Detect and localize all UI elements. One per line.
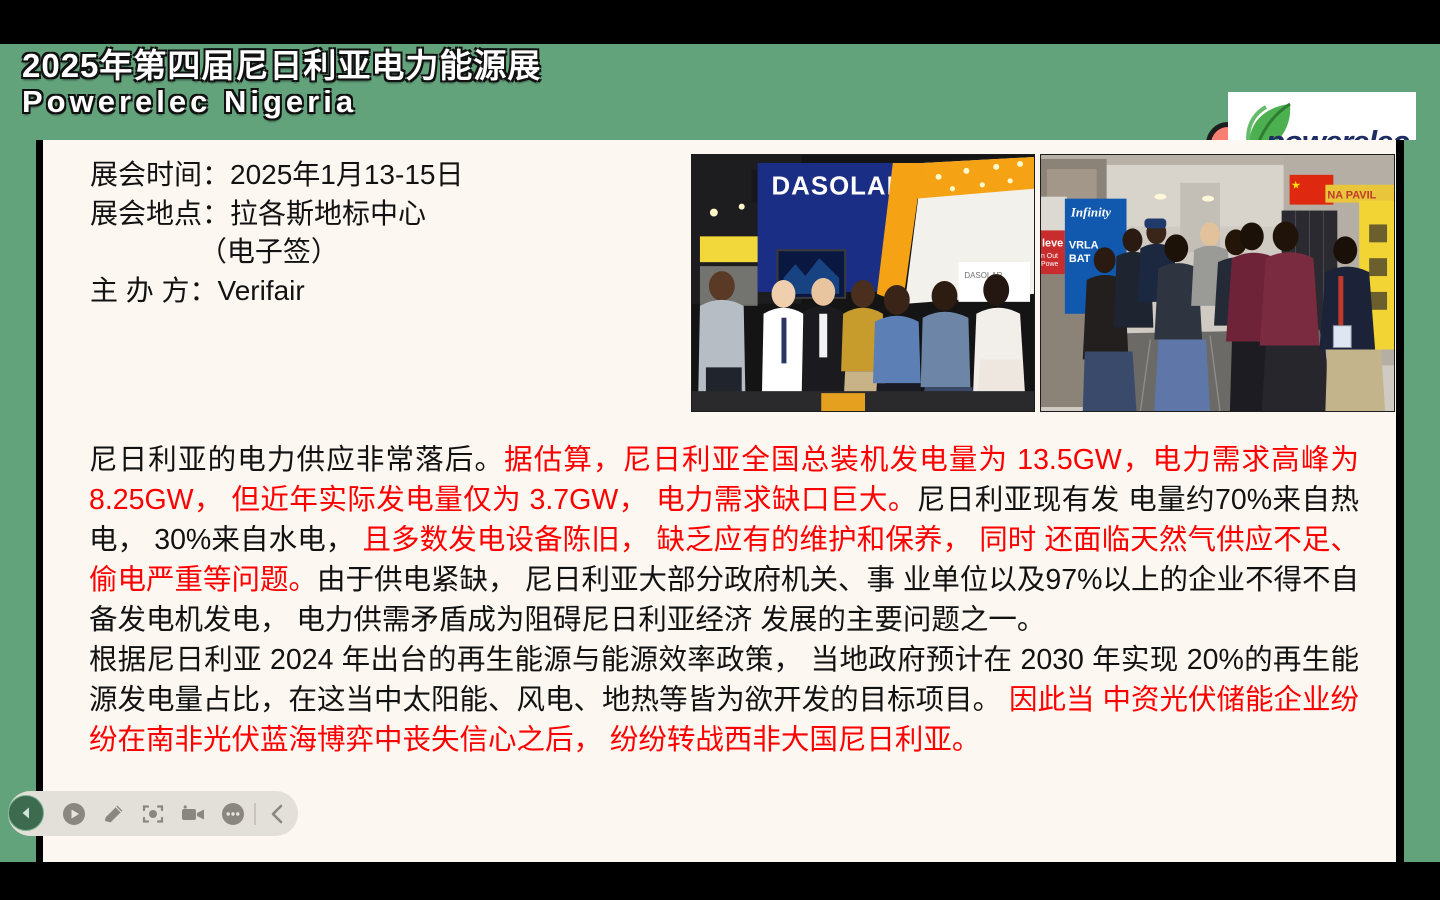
more-button[interactable] <box>213 791 253 836</box>
toolbar-divider <box>254 803 256 825</box>
back-button[interactable] <box>8 795 44 831</box>
svg-text:n Out: n Out <box>1041 253 1058 260</box>
svg-text:NA PAVIL: NA PAVIL <box>1327 190 1376 202</box>
svg-text:leve: leve <box>1042 237 1063 249</box>
focus-frame-icon <box>141 802 165 826</box>
page-title: 2025年第四届尼日利亚电力能源展 Powerelec Nigeria <box>22 48 1182 118</box>
left-green-band <box>0 140 36 862</box>
slide-viewer: 2025年第四届尼日利亚电力能源展 Powerelec Nigeria powe… <box>0 0 1440 900</box>
svg-text:Infinity: Infinity <box>1070 205 1111 220</box>
pencil-icon <box>102 802 126 826</box>
slide-content: 展会时间：2025年1月13-15日 展会地点：拉各斯地标中心 （电子签） 主 … <box>43 140 1396 862</box>
chevron-left-icon <box>267 803 289 825</box>
p1-seg-1: 尼日利亚的电力供应非常落后。 <box>89 444 504 476</box>
event-info-block: 展会时间：2025年1月13-15日 展会地点：拉各斯地标中心 （电子签） 主 … <box>90 156 463 311</box>
annotate-button[interactable] <box>94 791 134 836</box>
video-camera-icon <box>180 802 206 826</box>
event-venue: 展会地点：拉各斯地标中心 <box>90 198 426 229</box>
collapse-button[interactable] <box>258 791 298 836</box>
title-line-english: Powerelec Nigeria <box>22 85 1182 118</box>
more-dots-icon <box>221 802 245 826</box>
left-black-rail <box>36 140 43 862</box>
paragraph-2: 根据尼日利亚 2024 年出台的再生能源与能源效率政策， 当地政府预计在 203… <box>89 640 1359 760</box>
slide-header: 2025年第四届尼日利亚电力能源展 Powerelec Nigeria powe… <box>0 44 1440 140</box>
play-button[interactable] <box>54 791 94 836</box>
screenshot-button[interactable] <box>133 791 173 836</box>
back-arrow-icon <box>17 804 35 822</box>
event-organizer: 主 办 方：Verifair <box>90 275 305 306</box>
event-visa-note: （电子签） <box>90 236 339 267</box>
article-body: 尼日利亚的电力供应非常落后。据估算，尼日利亚全国总装机发电量为 13.5GW，电… <box>89 440 1359 760</box>
right-green-band <box>1404 140 1440 862</box>
svg-text:Powe: Powe <box>1041 261 1059 268</box>
player-toolbar[interactable] <box>8 791 298 836</box>
right-black-rail <box>1396 140 1404 862</box>
paragraph-1: 尼日利亚的电力供应非常落后。据估算，尼日利亚全国总装机发电量为 13.5GW，电… <box>89 440 1359 640</box>
record-button[interactable] <box>173 791 213 836</box>
play-circle-icon <box>62 802 86 826</box>
svg-text:BAT: BAT <box>1069 253 1091 265</box>
svg-text:DASOLAR: DASOLAR <box>772 173 907 201</box>
svg-text:VRLA: VRLA <box>1069 239 1099 251</box>
title-line-chinese: 2025年第四届尼日利亚电力能源展 <box>22 48 1182 84</box>
photo-exhibition-aisle: Infinity VRLA BAT leve n Out Powe NA PAV… <box>1040 154 1395 412</box>
photo-dasolar-booth: DASOLAR DASOLAR <box>691 154 1035 412</box>
event-date: 展会时间：2025年1月13-15日 <box>90 159 463 190</box>
